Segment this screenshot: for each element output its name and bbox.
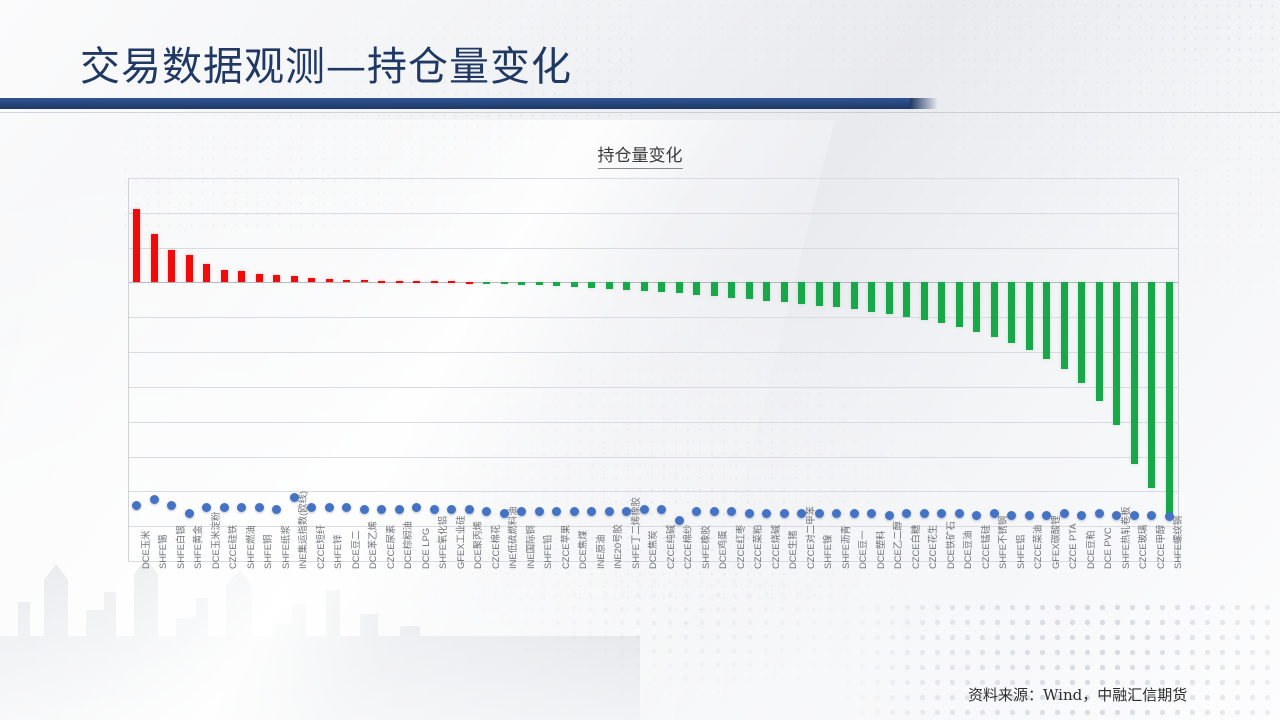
chart-marker [517,507,526,516]
x-axis-label: DCE生猪 [788,530,797,569]
chart-bar [448,281,455,283]
chart-bar [588,282,595,287]
chart-bar [921,282,928,319]
x-axis-label: DCE豆油 [963,530,972,569]
x-axis-label: INE原油 [596,535,605,569]
chart-title: 持仓量变化 [0,141,1280,166]
chart-bar [816,282,823,305]
chart-marker [885,511,894,520]
chart-marker [360,505,369,514]
chart-bar [781,282,788,302]
chart-bar [1113,282,1120,425]
title-accent-bar-tail [910,98,938,109]
x-axis-label: CZCE棉花 [491,525,500,569]
chart-marker [447,505,456,514]
chart-bar [1043,282,1050,359]
x-axis-label: GFEX碳酸锂 [1051,515,1060,569]
chart-marker [1077,511,1086,520]
chart-bar [343,280,350,283]
chart-marker [1095,509,1104,518]
chart-bar [256,274,263,282]
x-axis-label: SHFE铜 [263,535,272,569]
chart-marker [377,505,386,514]
x-axis-label: SHFE白银 [176,525,185,569]
chart-bar [291,276,298,283]
x-axis-label: SHFE丁二烯橡胶 [631,497,640,569]
x-axis-label: INE国际铜 [526,525,535,569]
x-axis-label: SHFE燃油 [246,525,255,569]
x-axis-label: CZCE硅铁 [228,525,237,569]
zero-line [128,282,1178,283]
chart-bar [676,282,683,293]
x-axis-label: DCE豆二 [351,530,360,569]
chart-title-text: 持仓量变化 [598,146,683,169]
chart-bar [623,282,630,289]
page-title: 交易数据观测—持仓量变化 [80,34,572,92]
x-axis-label: DCE鸡蛋 [718,530,727,569]
x-axis-label: SHFE纸浆 [281,525,290,569]
x-axis-label: DCE焦煤 [578,530,587,569]
x-axis-label: CZCE菜粕 [753,525,762,569]
x-axis-label: CZCE棉纱 [683,525,692,569]
chart-bar [168,250,175,282]
x-axis-label: CZCE菜油 [1033,525,1042,569]
chart-bar [851,282,858,309]
x-axis-label: DCE LPG [421,528,430,569]
x-axis-label: DCE豆粕 [1086,530,1095,569]
chart-marker [937,509,946,518]
chart-bar [1078,282,1085,383]
chart-bar [1026,282,1033,350]
chart-marker [955,509,964,518]
chart-bar [886,282,893,314]
x-axis-label: INE低硫燃料油 [508,506,517,569]
chart-bar [606,282,613,288]
chart-marker [395,505,404,514]
chart-bar [133,209,140,282]
x-axis-label: CZCE纯碱 [666,525,675,569]
chart-marker [1007,511,1016,520]
chart-bar [641,282,648,291]
x-axis-label: DCE玉米 [141,530,150,569]
grid-line [128,178,1178,179]
x-axis-label: GFEX工业硅 [456,515,465,569]
chart-marker [902,509,911,518]
chart-bar [746,282,753,299]
chart-bar [658,282,665,292]
chart-marker [185,509,194,518]
chart-bar [308,278,315,283]
x-axis-label: DCE聚丙烯 [473,521,482,569]
x-axis-label: SHFE沥青 [841,525,850,569]
chart-bar [186,255,193,282]
chart-bar [1166,282,1173,514]
source-note: 资料来源：Wind，中融汇信期货 [968,684,1187,705]
x-axis-label: DCE苯乙烯 [368,521,377,569]
chart-marker [237,503,246,512]
chart-marker [692,507,701,516]
chart-bar [868,282,875,311]
chart-marker [605,507,614,516]
chart-bar [466,282,473,284]
x-axis-label: DCE玉米淀粉 [211,512,220,569]
x-axis-label: SHFE橡胶 [701,525,710,569]
x-axis-label: DCE豆一 [858,530,867,569]
chart-bar [991,282,998,337]
x-axis-label: CZCE红枣 [736,525,745,569]
chart-marker [325,503,334,512]
x-axis-label: SHFE热轧卷板 [1121,506,1130,569]
header-divider [0,112,1280,113]
chart-bar [553,282,560,286]
x-axis-label: INE20号胶 [613,524,622,569]
chart-marker [220,503,229,512]
chart-marker [307,503,316,512]
chart-marker [587,507,596,516]
chart-marker [430,505,439,514]
chart-marker [202,503,211,512]
x-axis-label: DCE塑料 [876,530,885,569]
chart-bar [938,282,945,323]
x-axis-label: CZCE花生 [928,525,937,569]
grid-line [128,387,1178,388]
chart-marker [132,501,141,510]
chart-marker [342,503,351,512]
x-axis-label: DCE乙二醇 [893,521,902,569]
title-accent-bar [0,98,910,109]
x-axis-label: CZCE烧碱 [771,525,780,569]
chart-bar [501,282,508,284]
chart-marker [657,505,666,514]
x-axis-label: SHFE锌 [333,535,342,569]
x-axis-label: SHFE镍 [823,535,832,569]
chart-bar [763,282,770,300]
x-axis-label: SHFE氧化铝 [438,516,447,569]
chart-bar [431,281,438,283]
chart-marker [1025,511,1034,520]
chart-marker [552,507,561,516]
chart-bar [221,270,228,283]
chart-bar [728,282,735,297]
x-axis-label: DCE棕榈油 [403,521,412,569]
grid-line [128,317,1178,318]
chart-marker [412,503,421,512]
chart-marker [1147,511,1156,520]
grid-line [128,248,1178,249]
chart-bar [203,264,210,282]
chart-marker [570,507,579,516]
chart-bar [536,282,543,285]
x-axis-label: CZCE锰硅 [981,525,990,569]
chart-bar [396,281,403,283]
chart-marker [167,501,176,510]
y-axis-right-line [1178,178,1179,561]
x-axis-label: DCE焦炭 [648,530,657,569]
y-axis-left-line [128,178,129,561]
x-axis-label: CZCE苹果 [561,525,570,569]
chart-bar [711,282,718,296]
chart-bar [1131,282,1138,463]
x-axis-label: DCE铁矿石 [946,521,955,569]
x-axis-label: SHFE螺纹钢 [1173,516,1182,569]
slide-root: 交易数据观测—持仓量变化 持仓量变化 6000040000200000-2000… [0,0,1280,720]
grid-line [128,213,1178,214]
chart-bar [973,282,980,332]
x-axis-label: CZCE对二甲苯 [806,506,815,569]
chart-marker [482,507,491,516]
grid-line [128,491,1178,492]
chart-marker [850,509,859,518]
x-axis-label: SHFE铅 [543,535,552,569]
x-axis-label: CZCE尿素 [386,525,395,569]
x-axis-label: SHFE不锈钢 [998,516,1007,569]
chart-marker [780,509,789,518]
chart-bar [903,282,910,316]
chart-bar [238,271,245,282]
x-axis-label: INE集运指数(欧线) [298,491,307,569]
chart-bar [413,281,420,283]
chart-marker [1130,511,1139,520]
chart-marker [972,511,981,520]
chart-marker [1060,509,1069,518]
chart-bar [1061,282,1068,369]
chart-bar [571,282,578,287]
chart-marker [535,507,544,516]
chart-bar [518,282,525,284]
chart-marker [762,509,771,518]
x-axis-label: SHFE铝 [1016,535,1025,569]
chart-marker [272,505,281,514]
chart-marker [255,503,264,512]
x-axis-label: CZCE白糖 [911,525,920,569]
chart-bar [1008,282,1015,343]
chart-bar [483,282,490,284]
chart-marker [710,507,719,516]
x-axis-label: SHFE黄金 [193,525,202,569]
chart-container: 持仓量变化 6000040000200000-20000-40000-60000… [0,125,1280,685]
chart-marker [150,495,159,504]
x-axis-label: DCE PVC [1103,527,1112,569]
chart-bar [1148,282,1155,487]
grid-line [128,422,1178,423]
chart-marker [832,509,841,518]
grid-line [128,457,1178,458]
chart-marker [815,509,824,518]
chart-bar [326,279,333,282]
x-axis-label: CZCE PTA [1068,523,1077,569]
chart-bar [151,234,158,283]
x-axis-label: CZCE甲醇 [1156,525,1165,569]
chart-marker [727,507,736,516]
grid-line [128,352,1178,353]
chart-bar [798,282,805,303]
x-axis-label: CZCE短纤 [316,525,325,569]
chart-marker [640,505,649,514]
chart-marker [465,505,474,514]
chart-bar [361,280,368,282]
chart-plot-area: 6000040000200000-20000-40000-60000-80000… [128,178,1178,561]
chart-bar [833,282,840,307]
x-axis-label: CZCE玻璃 [1138,525,1147,569]
chart-bar [273,275,280,283]
chart-bar [1096,282,1103,400]
chart-bar [693,282,700,294]
x-axis-label: SHFE锡 [158,535,167,569]
chart-bar [378,281,385,283]
chart-bar [956,282,963,327]
chart-marker [920,509,929,518]
chart-marker [867,509,876,518]
chart-marker [745,509,754,518]
